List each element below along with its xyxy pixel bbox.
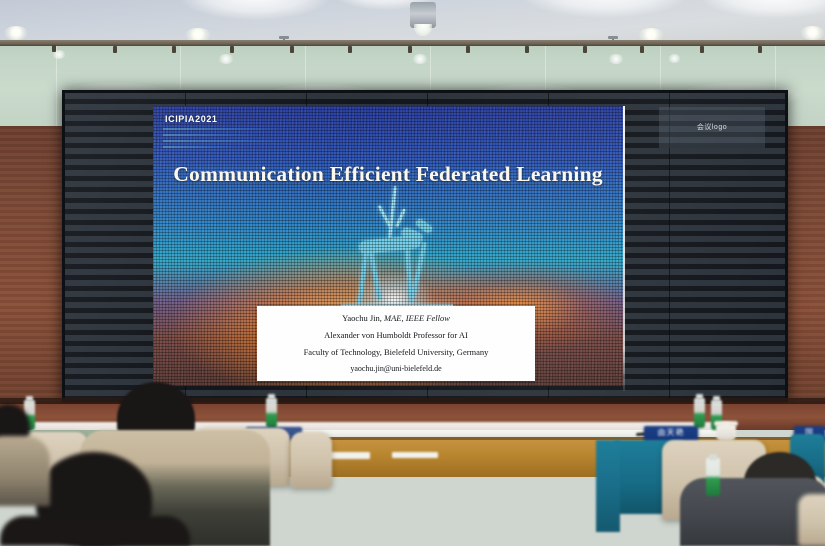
bottle-cap: [696, 394, 703, 399]
downlight: [4, 26, 28, 40]
track-clip: [172, 46, 176, 53]
water-bottle[interactable]: [694, 398, 705, 428]
downlight: [800, 26, 825, 40]
track-clip: [348, 46, 352, 53]
ceiling-glow: [700, 0, 825, 18]
track-clip: [290, 46, 294, 53]
wall-downlight: [608, 54, 624, 64]
bottle-cap: [709, 454, 717, 460]
conference-hall-photo: 会议logo: [0, 0, 825, 546]
ceiling-glow: [180, 0, 330, 20]
track-clip: [640, 46, 644, 53]
water-bottle[interactable]: [706, 458, 720, 496]
ceiling-light-fixture: [410, 2, 436, 28]
chair-beige[interactable]: [290, 432, 332, 488]
teal-table-skirt: [596, 440, 620, 532]
bottle-cap: [268, 394, 275, 399]
led-screen-sheen: [65, 93, 785, 399]
paper-sheet[interactable]: [392, 452, 438, 458]
track-clip: [525, 46, 529, 53]
foreground-person-shoulders: [0, 516, 190, 546]
bottle-cap: [26, 396, 33, 401]
tea-cup-lid: [714, 421, 738, 426]
water-bottle[interactable]: [266, 398, 277, 428]
wall-downlight: [218, 54, 234, 64]
name-placard-center-text: 由天艳: [644, 426, 698, 440]
wall-downlight: [412, 54, 428, 64]
track-clip: [466, 46, 470, 53]
bottle-cap: [713, 396, 720, 401]
track-clip: [758, 46, 762, 53]
track-clip: [113, 46, 117, 53]
track-clip: [700, 46, 704, 53]
track-clip: [583, 46, 587, 53]
led-video-wall[interactable]: 会议logo: [62, 90, 788, 402]
track-clip: [52, 45, 56, 52]
track-clip: [230, 46, 234, 53]
chair-beige-armrest[interactable]: [798, 494, 825, 546]
audience-member-torso: [0, 436, 50, 506]
wall-downlight: [668, 54, 681, 63]
track-clip: [408, 46, 412, 53]
ceiling-glow: [520, 0, 690, 18]
tea-cup[interactable]: [716, 424, 736, 441]
